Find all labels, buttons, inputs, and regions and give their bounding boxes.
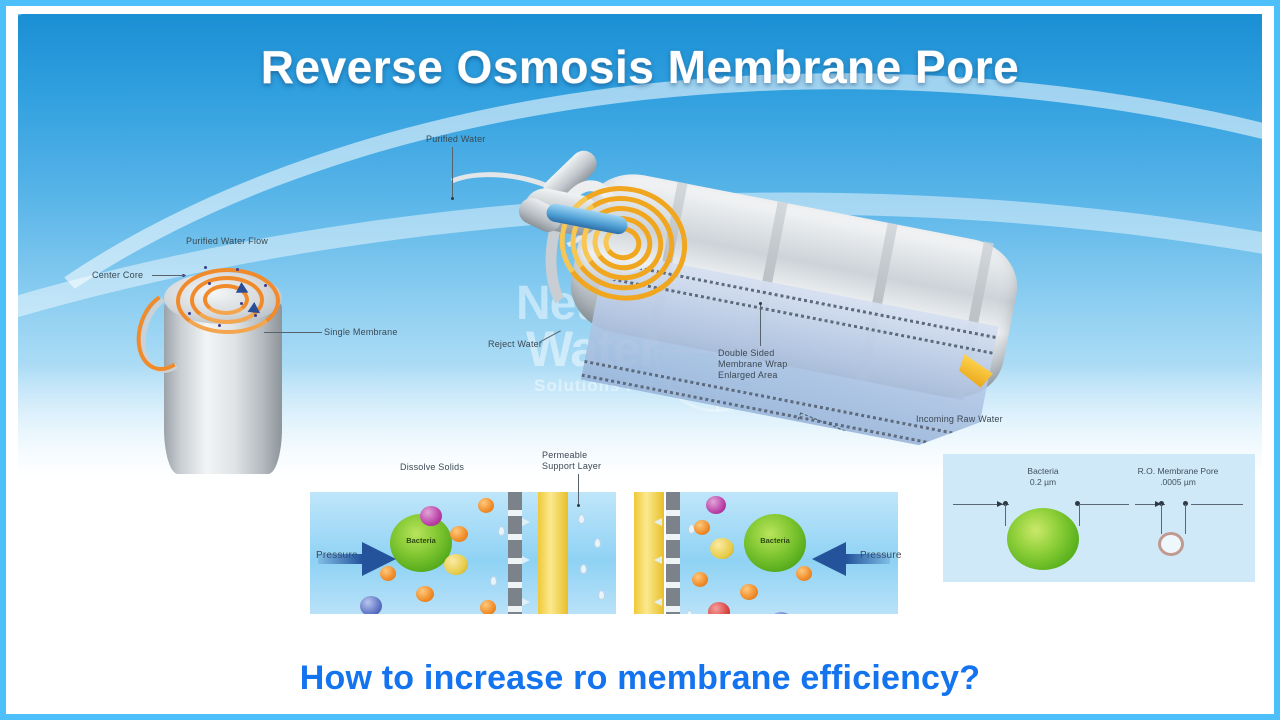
measure-tick (1079, 504, 1080, 526)
size-comparison-panel: Bacteria 0.2 µm R.O. Membrane Pore .0005… (943, 454, 1255, 582)
pressure-arrow-right-icon (812, 542, 846, 576)
contaminant-particle (420, 506, 442, 526)
module-spiral-end (551, 175, 693, 305)
water-droplet (578, 514, 585, 524)
spiral-dot (240, 302, 243, 305)
flow-arrow-icon (522, 518, 530, 526)
label-center-core: Center Core (92, 270, 143, 281)
label-double-sided-wrap: Double Sided Membrane Wrap Enlarged Area (718, 348, 787, 381)
spiral-dot (208, 282, 211, 285)
label-purified-water-flow: Purified Water Flow (186, 236, 268, 247)
comparison-bacteria-label: Bacteria 0.2 µm (989, 466, 1097, 488)
contaminant-particle (710, 538, 734, 559)
bacteria-sphere (1007, 508, 1079, 570)
measure-tick (1161, 504, 1162, 534)
illustration-title: Reverse Osmosis Membrane Pore (18, 40, 1262, 94)
page-frame: Reverse Osmosis Membrane Pore Netsol Wat… (0, 0, 1280, 720)
measure-rule (1079, 504, 1129, 505)
measure-rule (1191, 504, 1243, 505)
membrane-barrier-left (508, 492, 522, 614)
bacteria-left: Bacteria (390, 514, 452, 572)
bacteria-left-label: Bacteria (390, 536, 452, 545)
pressure-arrow-shaft-right (846, 554, 890, 564)
water-droplet (498, 526, 505, 536)
page-caption: How to increase ro membrane efficiency? (0, 659, 1280, 698)
contaminant-particle (360, 596, 382, 614)
membrane-pore-circle (1158, 532, 1184, 556)
water-droplet (594, 538, 601, 548)
leader-permeable-support-layer (578, 474, 579, 504)
leader-dot (451, 197, 454, 200)
membrane-spiral (174, 268, 278, 332)
spiral-dot (204, 266, 207, 269)
contaminant-particle (478, 498, 494, 513)
water-droplet (580, 564, 587, 574)
leader-center-core (152, 275, 186, 276)
pressure-arrow-left-icon (362, 542, 396, 576)
bacteria-right-label: Bacteria (744, 536, 806, 545)
water-droplet (598, 590, 605, 600)
measure-tick (1005, 504, 1006, 526)
comparison-pore-label: R.O. Membrane Pore .0005 µm (1109, 466, 1247, 488)
label-purified-water: Purified Water (426, 134, 486, 145)
support-layer-right (634, 492, 664, 614)
contaminant-particle (706, 496, 726, 514)
flow-arrow-icon (522, 556, 530, 564)
label-dissolve-solids: Dissolve Solids (400, 462, 464, 473)
flow-arrow-icon (654, 556, 662, 564)
label-reject-water: Reject Water (488, 339, 542, 350)
contaminant-particle (740, 584, 758, 600)
spiral-dot (236, 268, 239, 271)
contaminant-particle (416, 586, 434, 602)
leader-dot (759, 302, 762, 305)
label-incoming-raw-water: Incoming Raw Water (916, 414, 1003, 425)
flow-arrow-icon (654, 518, 662, 526)
membrane-barrier-right (666, 492, 680, 614)
contaminant-particle (444, 554, 468, 575)
support-layer-left (538, 492, 568, 614)
contaminant-particle (694, 520, 710, 535)
spiral-dot (218, 324, 221, 327)
contaminant-particle (796, 566, 812, 581)
measure-tick (1185, 504, 1186, 534)
spiral-wound-element (164, 272, 282, 492)
bacteria-right: Bacteria (744, 514, 806, 572)
label-permeable-support-layer: Permeable Support Layer (542, 450, 601, 472)
leader-dot (577, 504, 580, 507)
label-single-membrane: Single Membrane (324, 327, 398, 338)
contaminant-particle (480, 600, 496, 614)
flow-arrow-icon (654, 598, 662, 606)
water-droplet (490, 576, 497, 586)
spiral-dot (188, 312, 191, 315)
contaminant-particle (692, 572, 708, 587)
contaminant-particle (450, 526, 468, 542)
flow-arrow-icon (522, 598, 530, 606)
leader-single-membrane (264, 332, 322, 333)
pressure-arrow-shaft-left (318, 554, 362, 564)
spiral-dot (264, 284, 267, 287)
leader-double-sided-wrap (760, 304, 761, 346)
leader-purified-water (452, 147, 453, 199)
ro-membrane-illustration: Reverse Osmosis Membrane Pore Netsol Wat… (18, 14, 1262, 614)
